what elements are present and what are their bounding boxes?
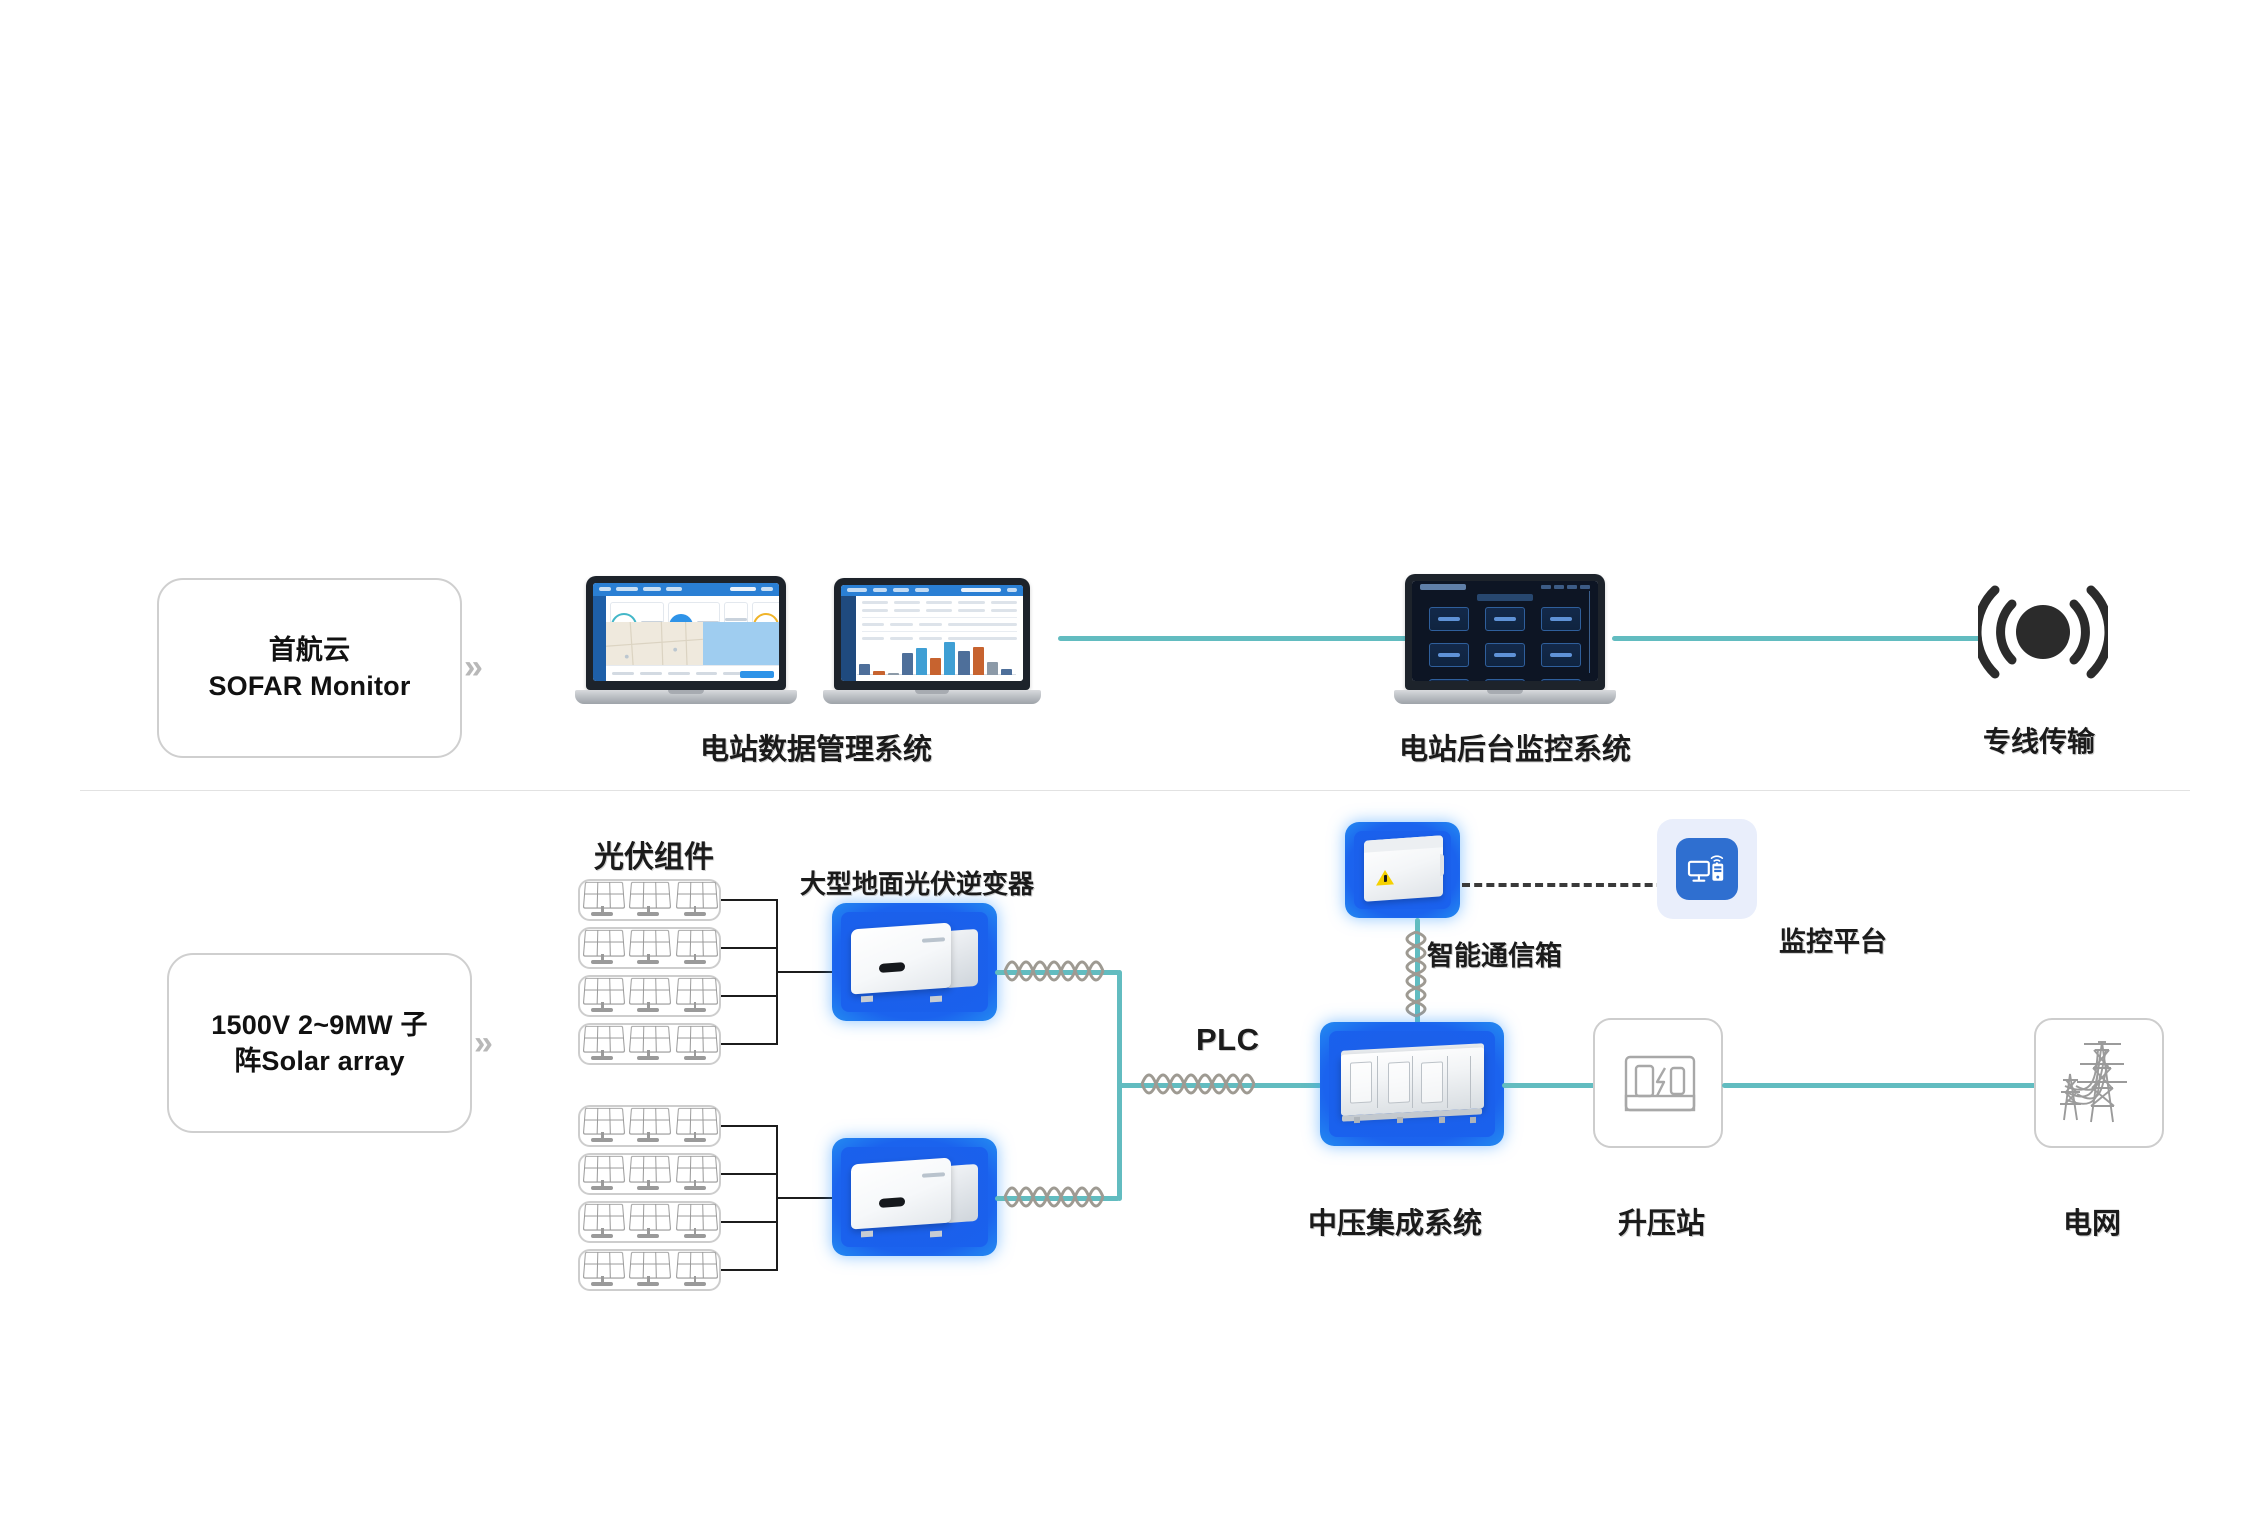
communication-box-icon	[1359, 834, 1447, 906]
caption-booster-station: 升压站	[1618, 1200, 1705, 1242]
caption-monitor-platform: 监控平台	[1779, 920, 1887, 959]
array-tier-badge-text: 1500V 2~9MW 子 阵Solar array	[199, 1007, 439, 1080]
caption-backend-monitor: 电站后台监控系统	[1399, 726, 1631, 768]
pv-string-row[interactable]	[578, 879, 721, 921]
pv-string-row[interactable]	[578, 1023, 721, 1065]
monitor-platform-tile[interactable]	[1657, 819, 1757, 919]
coil-icon-plc	[1140, 1064, 1260, 1104]
pv-harness-trunk	[776, 971, 832, 973]
screen-map	[606, 622, 779, 665]
inverter-icon	[851, 1154, 979, 1240]
laptop-lid	[586, 576, 786, 690]
inverter-tile-lower[interactable]	[832, 1138, 997, 1256]
caption-power-grid: 电网	[2063, 1200, 2121, 1242]
laptop-backend-console[interactable]	[1405, 574, 1605, 704]
laptop-data-dashboard[interactable]	[586, 576, 786, 704]
transmission-tower-icon	[2036, 1020, 2166, 1150]
pv-string-row[interactable]	[578, 1249, 721, 1291]
link-booster-to-grid	[1722, 1083, 2072, 1088]
link-commbox-to-platform	[1462, 883, 1677, 887]
pv-string-row[interactable]	[578, 1201, 721, 1243]
screen-bar-chart	[859, 637, 1012, 675]
pv-harness-trunk	[776, 1197, 832, 1199]
wireless-broadcast-icon	[1978, 582, 2108, 682]
booster-station-tile[interactable]	[1593, 1018, 1723, 1148]
caption-dedicated-line: 专线传输	[1983, 720, 2095, 760]
pv-string-row[interactable]	[578, 975, 721, 1017]
laptop-screen-console	[1412, 581, 1598, 681]
caption-pv-modules: 光伏组件	[594, 832, 714, 876]
caption-comm-box: 智能通信箱	[1427, 934, 1562, 973]
mv-container-icon	[1336, 1038, 1488, 1130]
tier-divider	[80, 790, 2190, 791]
comm-box-tile[interactable]	[1345, 822, 1460, 918]
cloud-tier-badge[interactable]: 首航云 SOFAR Monitor	[157, 578, 462, 758]
array-badge-line1: 1500V 2~9MW 子	[211, 1007, 427, 1043]
array-tier-chevron-icon: »	[474, 1026, 487, 1060]
laptop-base	[1394, 690, 1616, 704]
pv-string-row[interactable]	[578, 1153, 721, 1195]
console-logo-icon	[1420, 584, 1466, 590]
diagram-canvas: 首航云 SOFAR Monitor »	[0, 0, 2265, 1530]
label-plc: PLC	[1196, 1022, 1260, 1058]
console-title-bar	[1477, 594, 1533, 601]
laptop-lid	[834, 578, 1030, 690]
console-ui	[1412, 581, 1598, 681]
coil-icon-upper	[1003, 951, 1115, 991]
laptop-screen-report	[841, 585, 1023, 681]
laptop-base	[823, 690, 1041, 704]
laptop-screen-dashboard	[593, 583, 779, 681]
console-menu-grid	[1429, 607, 1582, 681]
pv-harness-lead	[721, 1221, 777, 1223]
pv-harness-lead	[721, 1173, 777, 1175]
link-backend-to-line	[1612, 636, 1982, 641]
screen-sidebar	[841, 596, 856, 681]
cloud-tier-chevron-icon: »	[464, 650, 477, 684]
laptop-base	[575, 690, 797, 704]
pv-harness-lead	[721, 1125, 777, 1127]
coil-icon-vertical	[1396, 930, 1436, 1028]
console-scrollbar[interactable]	[1589, 591, 1590, 673]
pv-harness-lead	[721, 1043, 777, 1045]
cloud-badge-line1: 首航云	[208, 632, 410, 668]
power-grid-tile[interactable]	[2034, 1018, 2164, 1148]
pv-harness-lead	[721, 995, 777, 997]
coil-icon-lower	[1003, 1177, 1115, 1217]
caption-data-mgmt: 电站数据管理系统	[700, 726, 932, 768]
substation-icon	[1595, 1020, 1725, 1150]
pv-harness-lead	[721, 899, 777, 901]
link-data-to-backend	[1058, 636, 1408, 641]
pv-string-row[interactable]	[578, 927, 721, 969]
cloud-badge-line2: SOFAR Monitor	[208, 668, 410, 704]
console-status-icons	[1541, 585, 1590, 589]
laptop-report-charts[interactable]	[834, 578, 1030, 704]
caption-mv-system: 中压集成系统	[1308, 1200, 1482, 1242]
monitor-platform-icon	[1676, 838, 1738, 900]
pv-harness-lead	[721, 1269, 777, 1271]
cloud-tier-badge-text: 首航云 SOFAR Monitor	[208, 632, 410, 705]
laptop-lid	[1405, 574, 1605, 690]
screen-titlebar	[841, 585, 1023, 596]
pv-string-row[interactable]	[578, 1105, 721, 1147]
screen-primary-button	[740, 671, 774, 678]
mv-system-tile[interactable]	[1320, 1022, 1504, 1146]
inverter-icon	[851, 919, 979, 1005]
pv-harness-lead	[721, 947, 777, 949]
inverter-tile-upper[interactable]	[832, 903, 997, 1021]
array-badge-line2: 阵Solar array	[211, 1043, 427, 1079]
screen-titlebar	[593, 583, 779, 596]
screen-sidebar	[593, 596, 606, 681]
array-tier-badge[interactable]: 1500V 2~9MW 子 阵Solar array	[167, 953, 472, 1133]
caption-inverter: 大型地面光伏逆变器	[800, 864, 1034, 901]
desktop-wifi-icon	[1687, 851, 1727, 887]
